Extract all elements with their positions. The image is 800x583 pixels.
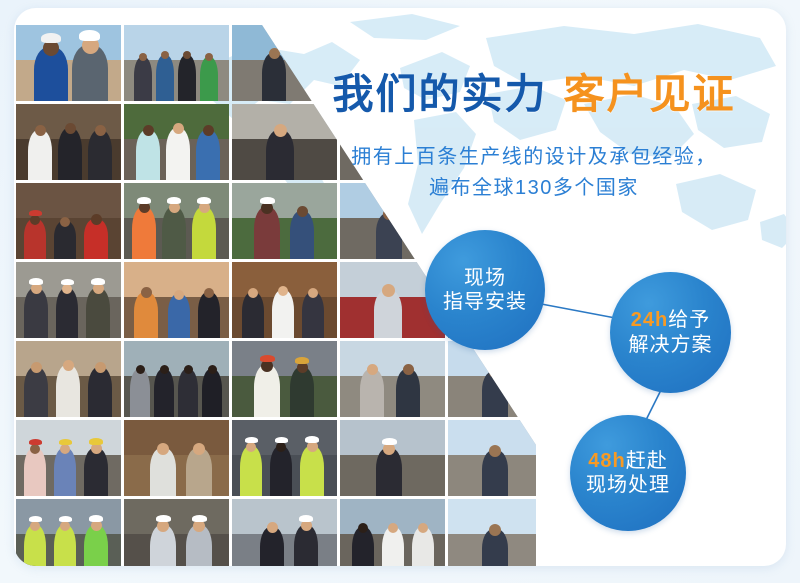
subtitle-line-1: 拥有上百条生产线的设计及承包经验， — [284, 142, 784, 173]
photo-foreground — [664, 218, 769, 259]
photo-person — [592, 213, 618, 259]
photo-person-head — [599, 208, 611, 220]
photo-person — [24, 448, 46, 496]
photo-person — [290, 367, 314, 417]
photo-person-helmet — [29, 210, 42, 216]
photo-person — [24, 367, 48, 417]
photo-cell — [232, 499, 337, 566]
photo-person — [150, 448, 176, 496]
photo-person-head — [95, 125, 106, 136]
photo-person — [262, 53, 286, 101]
photo-background — [232, 499, 337, 534]
photo-person — [202, 369, 222, 417]
photo-row — [16, 420, 536, 496]
photo-person-head — [248, 288, 258, 298]
photo-cell — [124, 341, 229, 417]
page-title: 我们的实力客户见证 — [284, 60, 784, 120]
photo-person-head — [308, 288, 318, 298]
photo-person-head — [65, 123, 76, 134]
photo-person-helmet — [89, 438, 103, 445]
photo-background — [340, 25, 445, 60]
photo-person-helmet — [299, 515, 313, 522]
photo-person — [84, 448, 108, 496]
photo-person-head — [160, 365, 169, 374]
photo-person — [198, 292, 220, 338]
photo-person — [702, 452, 728, 496]
photo-person — [24, 288, 48, 338]
photo-person-head — [418, 523, 428, 533]
photo-cell — [448, 420, 553, 496]
photo-person-head — [709, 210, 721, 222]
photo-background — [556, 25, 661, 60]
photo-person-head — [367, 364, 378, 375]
photo-person-helmet — [59, 439, 72, 445]
photo-background — [448, 25, 553, 60]
photo-foreground — [232, 376, 337, 417]
photo-person — [58, 128, 82, 180]
photo-cell — [16, 183, 121, 259]
photo-person-helmet — [29, 439, 42, 445]
photo-person — [374, 290, 402, 338]
photo-person-head — [267, 522, 278, 533]
photo-cell — [232, 262, 337, 338]
photo-person-head — [274, 124, 287, 137]
photo-person-head — [599, 287, 611, 299]
photo-person-helmet — [167, 197, 181, 204]
photo-person — [88, 130, 112, 180]
photo-person-helmet — [260, 355, 275, 362]
photo-person — [54, 525, 76, 566]
photo-person-head — [193, 443, 205, 455]
photo-person-head — [489, 445, 501, 457]
photo-person-helmet — [245, 437, 258, 443]
title-part-testimonial: 客户见证 — [564, 71, 736, 117]
photo-person — [86, 288, 110, 338]
photo-background — [232, 341, 337, 376]
photo-person — [24, 219, 46, 259]
photo-person-head — [599, 129, 611, 141]
photo-person — [134, 292, 158, 338]
photo-person-helmet — [41, 33, 61, 43]
photo-person — [178, 55, 196, 101]
photo-cell — [124, 262, 229, 338]
bubble-3-line-2: 现场处理 — [586, 473, 670, 497]
photo-person — [240, 446, 262, 496]
photo-person — [270, 446, 292, 496]
photo-person — [592, 371, 618, 417]
photo-cell — [124, 183, 229, 259]
photo-background — [664, 499, 769, 534]
photo-foreground — [664, 534, 769, 566]
photo-cell — [124, 499, 229, 566]
bubble-3-line-1: 48h赶赴 — [588, 449, 667, 473]
photo-cell — [16, 262, 121, 338]
photo-person-helmet — [91, 278, 105, 285]
photo-person — [592, 529, 618, 566]
photo-person — [186, 448, 212, 496]
photo-person — [482, 450, 508, 496]
photo-cell — [16, 104, 121, 180]
photo-person — [162, 207, 186, 259]
photo-person-head — [136, 365, 145, 374]
photo-person-head — [174, 290, 184, 300]
photo-person — [132, 207, 156, 259]
photo-person-helmet — [61, 279, 74, 285]
photo-person — [290, 211, 314, 259]
photo-person-head — [383, 208, 395, 220]
photo-background — [124, 499, 229, 534]
photo-person — [166, 128, 190, 180]
photo-person-helmet — [79, 30, 100, 41]
photo-person-head — [60, 217, 70, 227]
photo-person — [56, 288, 78, 338]
bubble-1-line-1: 现场 — [464, 266, 506, 290]
photo-person — [360, 369, 384, 417]
photo-foreground — [232, 534, 337, 566]
photo-person-head — [141, 287, 152, 298]
photo-person — [482, 371, 508, 417]
photo-person-head — [204, 288, 214, 298]
photo-foreground — [124, 455, 229, 496]
photo-person-head — [173, 123, 184, 134]
photo-foreground — [556, 218, 661, 259]
photo-person-head — [95, 362, 106, 373]
photo-person — [272, 290, 294, 338]
photo-person-helmet — [192, 515, 207, 522]
photo-person-head — [35, 125, 46, 136]
photo-person-helmet — [89, 515, 103, 522]
photo-person — [88, 367, 112, 417]
photo-person — [396, 369, 420, 417]
photo-person-head — [203, 125, 214, 136]
photo-person-head — [31, 362, 42, 373]
photo-person-helmet — [305, 436, 319, 443]
photo-person-helmet — [29, 278, 43, 285]
photo-person-head — [63, 360, 74, 371]
photo-foreground — [556, 534, 661, 566]
photo-person — [376, 448, 402, 496]
bubble-on-site-installation[interactable]: 现场 指导安装 — [425, 230, 545, 350]
photo-person — [254, 365, 280, 417]
photo-person-head — [91, 214, 102, 225]
photo-person-head — [358, 523, 368, 533]
photo-person — [702, 215, 728, 259]
bubble-3-rest: 赶赴 — [626, 450, 668, 472]
bubble-2-line-1: 24h给予 — [631, 308, 710, 332]
bubble-48h-onsite[interactable]: 48h赶赴 现场处理 — [570, 415, 686, 531]
photo-person — [412, 527, 434, 566]
photo-person-head — [709, 131, 721, 143]
photo-person-helmet — [197, 197, 211, 204]
photo-foreground — [232, 218, 337, 259]
bubble-24h-solution[interactable]: 24h给予 解决方案 — [610, 272, 731, 393]
photo-person-head — [489, 129, 501, 141]
photo-person — [192, 207, 216, 259]
bubble-3-amount: 48h — [588, 450, 625, 472]
photo-person — [156, 55, 174, 101]
photo-person-helmet — [260, 197, 275, 204]
photo-person-helmet — [382, 438, 397, 445]
bubble-2-amount: 24h — [631, 309, 668, 331]
photo-person-head — [489, 524, 501, 536]
photo-person — [28, 130, 52, 180]
photo-person-head — [184, 365, 193, 374]
photo-cell — [124, 25, 229, 101]
photo-person-head — [383, 129, 395, 141]
photo-person — [702, 531, 728, 566]
photo-person — [352, 527, 374, 566]
photo-person — [376, 213, 402, 259]
photo-person-head — [157, 443, 169, 455]
photo-cell — [124, 420, 229, 496]
photo-cell — [232, 420, 337, 496]
photo-background — [664, 25, 769, 60]
photo-person-head — [269, 48, 280, 59]
photo-cell — [16, 25, 121, 101]
photo-background — [340, 341, 445, 376]
photo-person — [56, 365, 80, 417]
photo-row — [16, 341, 536, 417]
photo-cell — [448, 341, 553, 417]
photo-person-head — [208, 365, 217, 374]
photo-foreground — [124, 534, 229, 566]
photo-person — [84, 525, 108, 566]
photo-cell — [16, 420, 121, 496]
photo-person — [178, 369, 198, 417]
subtitle-line-2: 遍布全球130多个国家 — [284, 173, 784, 204]
photo-person — [294, 525, 318, 566]
photo-cell — [664, 499, 769, 566]
photo-person — [382, 527, 404, 566]
photo-cell — [16, 499, 121, 566]
title-part-strength: 我们的实力 — [333, 71, 548, 117]
photo-background — [232, 25, 337, 60]
photo-person-helmet — [29, 516, 42, 522]
content-card: 我们的实力客户见证 拥有上百条生产线的设计及承包经验， 遍布全球130多个国家 … — [14, 8, 786, 566]
photo-person — [254, 207, 280, 259]
photo-person-helmet — [275, 437, 288, 443]
photo-person-helmet — [295, 357, 309, 364]
photo-cell — [448, 499, 553, 566]
photo-cell — [340, 341, 445, 417]
photo-person — [302, 292, 324, 338]
photo-person-head — [403, 364, 414, 375]
photo-person — [134, 57, 152, 101]
photo-person — [24, 525, 46, 566]
photo-cell — [16, 341, 121, 417]
promo-banner: 我们的实力客户见证 拥有上百条生产线的设计及承包经验， 遍布全球130多个国家 … — [0, 0, 800, 583]
photo-person-head — [278, 286, 288, 296]
photo-person-head — [599, 366, 611, 378]
photo-cell — [124, 104, 229, 180]
photo-person-head — [382, 284, 395, 297]
photo-person — [54, 221, 76, 259]
photo-person-head — [143, 125, 154, 136]
photo-person — [200, 57, 218, 101]
photo-cell — [232, 341, 337, 417]
photo-person — [154, 369, 174, 417]
photo-cell — [340, 420, 445, 496]
photo-person-head — [709, 447, 721, 459]
photo-row — [16, 499, 536, 566]
photo-person — [242, 292, 264, 338]
subtitle: 拥有上百条生产线的设计及承包经验， 遍布全球130多个国家 — [284, 142, 784, 204]
photo-person — [130, 369, 150, 417]
photo-foreground — [340, 376, 445, 417]
photo-person — [196, 130, 220, 180]
photo-person-head — [388, 523, 398, 533]
photo-person — [300, 446, 324, 496]
photo-person-helmet — [137, 197, 151, 204]
photo-person-head — [489, 366, 501, 378]
photo-person-helmet — [59, 516, 72, 522]
photo-person-head — [489, 208, 501, 220]
bubble-2-rest: 给予 — [668, 309, 710, 331]
photo-person — [168, 294, 190, 338]
photo-person-head — [297, 206, 308, 217]
photo-person-helmet — [156, 515, 171, 522]
photo-background — [124, 420, 229, 455]
photo-cell — [340, 499, 445, 566]
photo-person-head — [709, 526, 721, 538]
bubble-1-line-2: 指导安装 — [443, 290, 527, 314]
photo-person-helmet — [382, 124, 397, 131]
photo-person — [136, 130, 160, 180]
bubble-2-line-2: 解决方案 — [629, 333, 713, 357]
photo-person — [54, 448, 76, 496]
